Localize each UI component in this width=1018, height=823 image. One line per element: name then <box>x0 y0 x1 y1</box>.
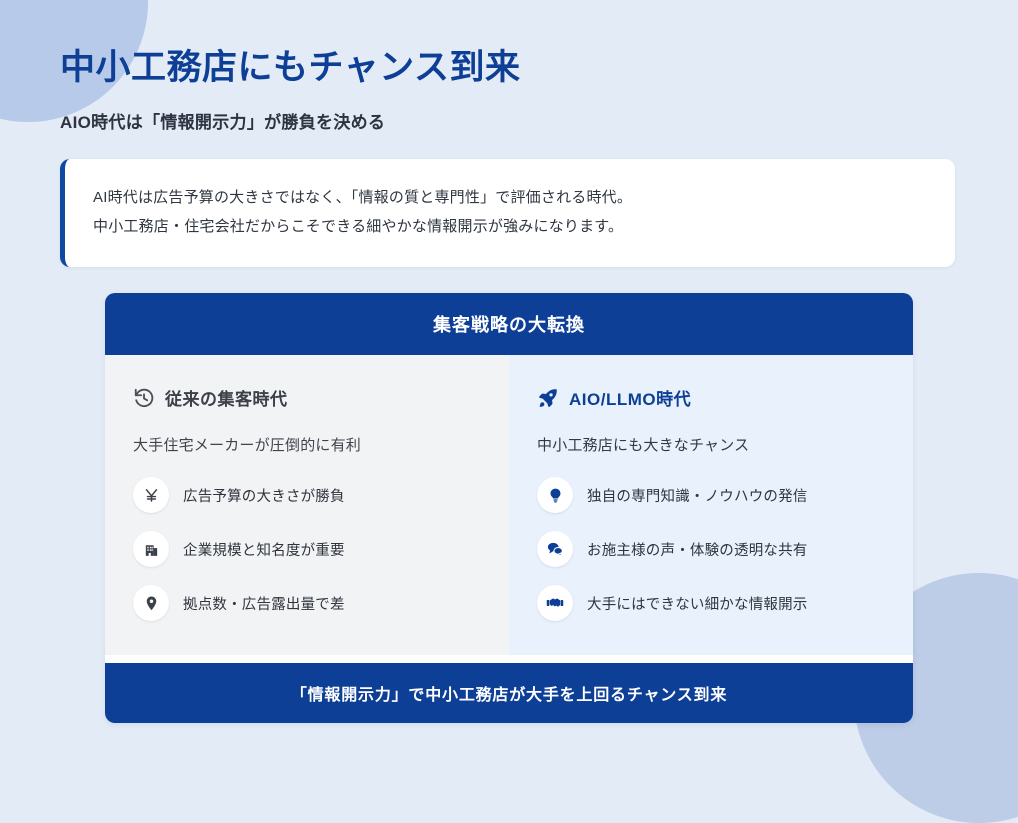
column-aio-header: AIO/LLMO時代 <box>537 385 885 410</box>
page-title: 中小工務店にもチャンス到来 <box>60 0 958 90</box>
page-content: 中小工務店にもチャンス到来 AIO時代は「情報開示力」が勝負を決める AI時代は… <box>0 0 1018 723</box>
list-item-label: お施主様の声・体験の透明な共有 <box>587 539 808 560</box>
list-item: 拠点数・広告露出量で差 <box>133 585 481 621</box>
list-item: お施主様の声・体験の透明な共有 <box>537 531 885 567</box>
comparison-columns: 従来の集客時代 大手住宅メーカーが圧倒的に有利 <box>105 355 913 655</box>
yen-icon <box>133 477 169 513</box>
list-item: 企業規模と知名度が重要 <box>133 531 481 567</box>
list-item-label: 大手にはできない細かな情報開示 <box>587 593 808 614</box>
column-legacy-header: 従来の集客時代 <box>133 385 481 410</box>
handshake-icon <box>537 585 573 621</box>
list-item-label: 広告予算の大きさが勝負 <box>183 485 345 506</box>
map-pin-icon <box>133 585 169 621</box>
column-aio-title: AIO/LLMO時代 <box>569 385 691 410</box>
column-aio-items: 独自の専門知識・ノウハウの発信 お施主様の声・体験の透明な共有 <box>537 477 885 621</box>
column-legacy-title: 従来の集客時代 <box>165 385 288 410</box>
column-legacy-subtitle: 大手住宅メーカーが圧倒的に有利 <box>133 434 481 455</box>
rocket-icon <box>537 387 559 409</box>
callout-box: AI時代は広告予算の大きさではなく、「情報の質と専門性」で評価される時代。 中小… <box>60 159 955 268</box>
column-aio-subtitle: 中小工務店にも大きなチャンス <box>537 434 885 455</box>
column-legacy-era: 従来の集客時代 大手住宅メーカーが圧倒的に有利 <box>105 355 509 655</box>
history-icon <box>133 387 155 409</box>
list-item: 広告予算の大きさが勝負 <box>133 477 481 513</box>
list-item-label: 企業規模と知名度が重要 <box>183 539 345 560</box>
card-header-title: 集客戦略の大転換 <box>105 293 913 355</box>
column-legacy-items: 広告予算の大きさが勝負 <box>133 477 481 621</box>
page-subtitle: AIO時代は「情報開示力」が勝負を決める <box>60 108 958 133</box>
callout-line-1: AI時代は広告予算の大きさではなく、「情報の質と専門性」で評価される時代。 <box>93 183 927 212</box>
strategy-card: 集客戦略の大転換 従来の集客時代 大手住宅メーカーが圧倒的に有利 <box>105 293 913 723</box>
card-footer-gap <box>105 655 913 663</box>
building-icon <box>133 531 169 567</box>
card-footer-text: 「情報開示力」で中小工務店が大手を上回るチャンス到来 <box>105 663 913 723</box>
lightbulb-icon <box>537 477 573 513</box>
list-item: 独自の専門知識・ノウハウの発信 <box>537 477 885 513</box>
callout-line-2: 中小工務店・住宅会社だからこそできる細やかな情報開示が強みになります。 <box>93 212 927 241</box>
list-item-label: 拠点数・広告露出量で差 <box>183 593 345 614</box>
list-item: 大手にはできない細かな情報開示 <box>537 585 885 621</box>
chat-bubbles-icon <box>537 531 573 567</box>
column-aio-era: AIO/LLMO時代 中小工務店にも大きなチャンス 独自の専門知識・ノウハウの発… <box>509 355 913 655</box>
list-item-label: 独自の専門知識・ノウハウの発信 <box>587 485 808 506</box>
